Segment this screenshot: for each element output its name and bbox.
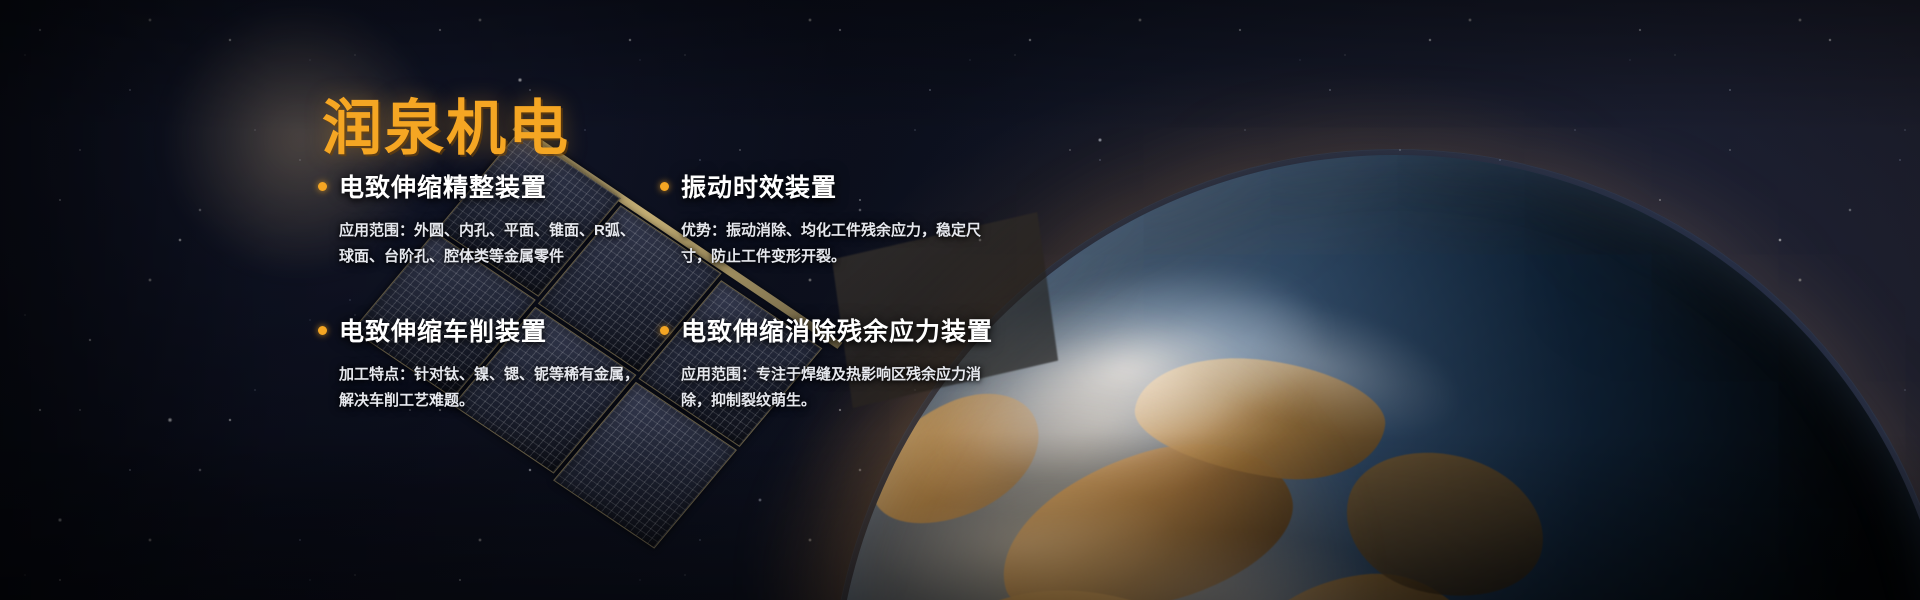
feature-row-top: 电致伸缩精整装置 应用范围：外圆、内孔、平面、锥面、R弧、球面、台阶孔、腔体类等… <box>318 168 1318 456</box>
feature-heading: 电致伸缩消除残余应力装置 <box>660 312 1020 348</box>
feature-column-right: 振动时效装置 优势：振动消除、均化工件残余应力，稳定尺寸，防止工件变形开裂。 电… <box>660 168 1020 456</box>
bullet-dot-icon <box>660 182 669 191</box>
feature-description: 应用范围：外圆、内孔、平面、锥面、R弧、球面、台阶孔、腔体类等金属零件 <box>339 218 639 270</box>
feature-heading: 振动时效装置 <box>660 168 1020 204</box>
feature-item-vibration-aging[interactable]: 振动时效装置 优势：振动消除、均化工件残余应力，稳定尺寸，防止工件变形开裂。 <box>660 168 1020 270</box>
feature-grid: 电致伸缩精整装置 应用范围：外圆、内孔、平面、锥面、R弧、球面、台阶孔、腔体类等… <box>318 168 1318 456</box>
feature-item-electrostrictive-finishing[interactable]: 电致伸缩精整装置 应用范围：外圆、内孔、平面、锥面、R弧、球面、台阶孔、腔体类等… <box>318 168 648 270</box>
brand-title: 润泉机电 <box>322 80 570 167</box>
feature-heading: 电致伸缩车削装置 <box>318 312 648 348</box>
banner-content: 润泉机电 电致伸缩精整装置 应用范围：外圆、内孔、平面、锥面、R弧、球面、台阶孔… <box>0 0 1920 600</box>
feature-title: 振动时效装置 <box>681 168 837 204</box>
feature-title: 电致伸缩车削装置 <box>339 312 547 348</box>
feature-title: 电致伸缩精整装置 <box>339 168 547 204</box>
feature-title: 电致伸缩消除残余应力装置 <box>681 312 993 348</box>
feature-description: 应用范围：专注于焊缝及热影响区残余应力消除，抑制裂纹萌生。 <box>681 362 981 414</box>
feature-item-electrostrictive-turning[interactable]: 电致伸缩车削装置 加工特点：针对钛、镍、锶、铌等稀有金属，解决车削工艺难题。 <box>318 312 648 414</box>
bullet-dot-icon <box>660 326 669 335</box>
feature-heading: 电致伸缩精整装置 <box>318 168 648 204</box>
bullet-dot-icon <box>318 182 327 191</box>
feature-description: 加工特点：针对钛、镍、锶、铌等稀有金属，解决车削工艺难题。 <box>339 362 639 414</box>
hero-banner: 润泉机电 电致伸缩精整装置 应用范围：外圆、内孔、平面、锥面、R弧、球面、台阶孔… <box>0 0 1920 600</box>
feature-item-residual-stress-relief[interactable]: 电致伸缩消除残余应力装置 应用范围：专注于焊缝及热影响区残余应力消除，抑制裂纹萌… <box>660 312 1020 414</box>
bullet-dot-icon <box>318 326 327 335</box>
feature-column-left: 电致伸缩精整装置 应用范围：外圆、内孔、平面、锥面、R弧、球面、台阶孔、腔体类等… <box>318 168 648 456</box>
feature-description: 优势：振动消除、均化工件残余应力，稳定尺寸，防止工件变形开裂。 <box>681 218 981 270</box>
